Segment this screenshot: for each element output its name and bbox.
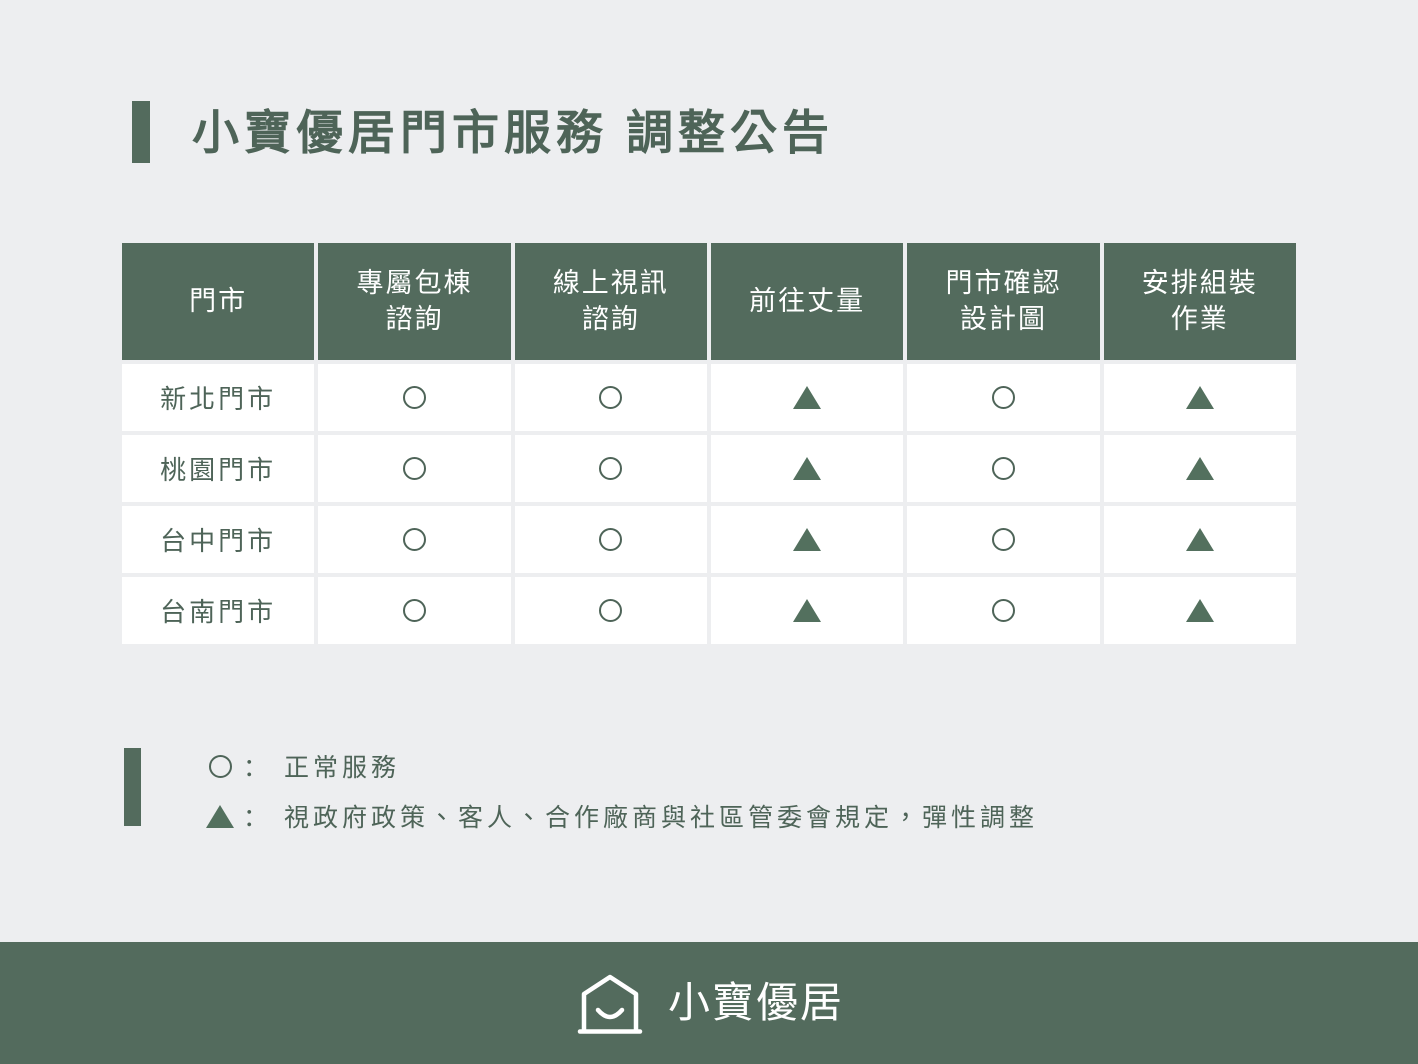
mark-cell	[1104, 506, 1296, 573]
circle-mark-icon	[992, 457, 1015, 480]
mark-cell	[1104, 435, 1296, 502]
circle-mark-icon	[403, 457, 426, 480]
mark-cell	[515, 577, 707, 644]
mark-cell	[711, 435, 903, 502]
page-title: 小寶優居門市服務 調整公告	[192, 109, 834, 156]
column-header-onsite-measure-line1: 前往丈量	[749, 284, 865, 319]
circle-mark-icon	[403, 386, 426, 409]
column-header-online-video-consult: 線上視訊 諮詢	[515, 243, 707, 360]
column-header-store-confirm-design-line2: 設計圖	[945, 302, 1061, 337]
triangle-mark-icon	[206, 805, 234, 828]
mark-cell	[711, 506, 903, 573]
store-name-cell: 新北門市	[122, 364, 314, 431]
circle-icon	[205, 755, 235, 778]
legend-lines: ： 正常服務 ： 視政府政策、客人、合作廠商與社區管委會規定，彈性調整	[205, 748, 1038, 834]
footer-bar: 小寶優居	[0, 942, 1418, 1064]
mark-cell	[907, 577, 1099, 644]
triangle-mark-icon	[1186, 386, 1214, 409]
triangle-mark-icon	[793, 457, 821, 480]
legend-item-flexible-service: ： 視政府政策、客人、合作廠商與社區管委會規定，彈性調整	[205, 798, 1038, 834]
store-name-cell: 桃園門市	[122, 435, 314, 502]
column-header-exclusive-consult: 專屬包棟 諮詢	[318, 243, 510, 360]
service-table: 門市 專屬包棟 諮詢 線上視訊 諮詢 前往丈量 門市確認 設計圖	[122, 243, 1296, 644]
mark-cell	[907, 435, 1099, 502]
column-header-store-line1: 門市	[189, 284, 247, 319]
triangle-mark-icon	[793, 386, 821, 409]
mark-cell	[1104, 577, 1296, 644]
triangle-mark-icon	[1186, 599, 1214, 622]
mark-cell	[711, 364, 903, 431]
legend-accent-bar	[124, 748, 141, 826]
circle-mark-icon	[599, 528, 622, 551]
legend-colon: ：	[243, 748, 272, 784]
mark-cell	[1104, 364, 1296, 431]
column-header-online-video-consult-line2: 諮詢	[553, 302, 669, 337]
title-accent-bar	[132, 101, 150, 163]
column-header-assembly-schedule: 安排組裝 作業	[1104, 243, 1296, 360]
circle-mark-icon	[992, 386, 1015, 409]
mark-cell	[907, 506, 1099, 573]
store-name-cell: 台南門市	[122, 577, 314, 644]
legend-label: 視政府政策、客人、合作廠商與社區管委會規定，彈性調整	[284, 798, 1038, 834]
column-header-online-video-consult-line1: 線上視訊	[553, 266, 669, 301]
mark-cell	[711, 577, 903, 644]
legend-label: 正常服務	[284, 748, 400, 784]
circle-mark-icon	[209, 755, 232, 778]
mark-cell	[907, 364, 1099, 431]
column-header-exclusive-consult-line1: 專屬包棟	[356, 266, 472, 301]
column-header-store-confirm-design-line1: 門市確認	[945, 266, 1061, 301]
circle-mark-icon	[992, 599, 1015, 622]
mark-cell	[515, 435, 707, 502]
circle-mark-icon	[403, 599, 426, 622]
triangle-mark-icon	[793, 599, 821, 622]
legend-item-normal-service: ： 正常服務	[205, 748, 1038, 784]
table-row: 台南門市	[122, 577, 1296, 644]
column-header-exclusive-consult-line2: 諮詢	[356, 302, 472, 337]
table-row: 新北門市	[122, 364, 1296, 431]
circle-mark-icon	[599, 457, 622, 480]
mark-cell	[515, 506, 707, 573]
house-smile-logo-icon	[574, 972, 646, 1034]
page-title-row: 小寶優居門市服務 調整公告	[132, 101, 834, 163]
circle-mark-icon	[599, 386, 622, 409]
footer-brand-name: 小寶優居	[668, 982, 844, 1024]
mark-cell	[515, 364, 707, 431]
column-header-store-confirm-design: 門市確認 設計圖	[907, 243, 1099, 360]
table-row: 桃園門市	[122, 435, 1296, 502]
triangle-mark-icon	[793, 528, 821, 551]
mark-cell	[318, 364, 510, 431]
column-header-onsite-measure: 前往丈量	[711, 243, 903, 360]
column-header-assembly-schedule-line2: 作業	[1142, 302, 1258, 337]
mark-cell	[318, 435, 510, 502]
circle-mark-icon	[599, 599, 622, 622]
mark-cell	[318, 577, 510, 644]
footer-logo-group: 小寶優居	[574, 972, 844, 1034]
circle-mark-icon	[992, 528, 1015, 551]
legend-colon: ：	[243, 798, 272, 834]
triangle-mark-icon	[1186, 457, 1214, 480]
store-name-cell: 台中門市	[122, 506, 314, 573]
column-header-assembly-schedule-line1: 安排組裝	[1142, 266, 1258, 301]
column-header-store: 門市	[122, 243, 314, 360]
circle-mark-icon	[403, 528, 426, 551]
triangle-mark-icon	[1186, 528, 1214, 551]
legend: ： 正常服務 ： 視政府政策、客人、合作廠商與社區管委會規定，彈性調整	[124, 748, 1038, 834]
table-row: 台中門市	[122, 506, 1296, 573]
table-header-row: 門市 專屬包棟 諮詢 線上視訊 諮詢 前往丈量 門市確認 設計圖	[122, 243, 1296, 360]
mark-cell	[318, 506, 510, 573]
triangle-icon	[205, 805, 235, 828]
